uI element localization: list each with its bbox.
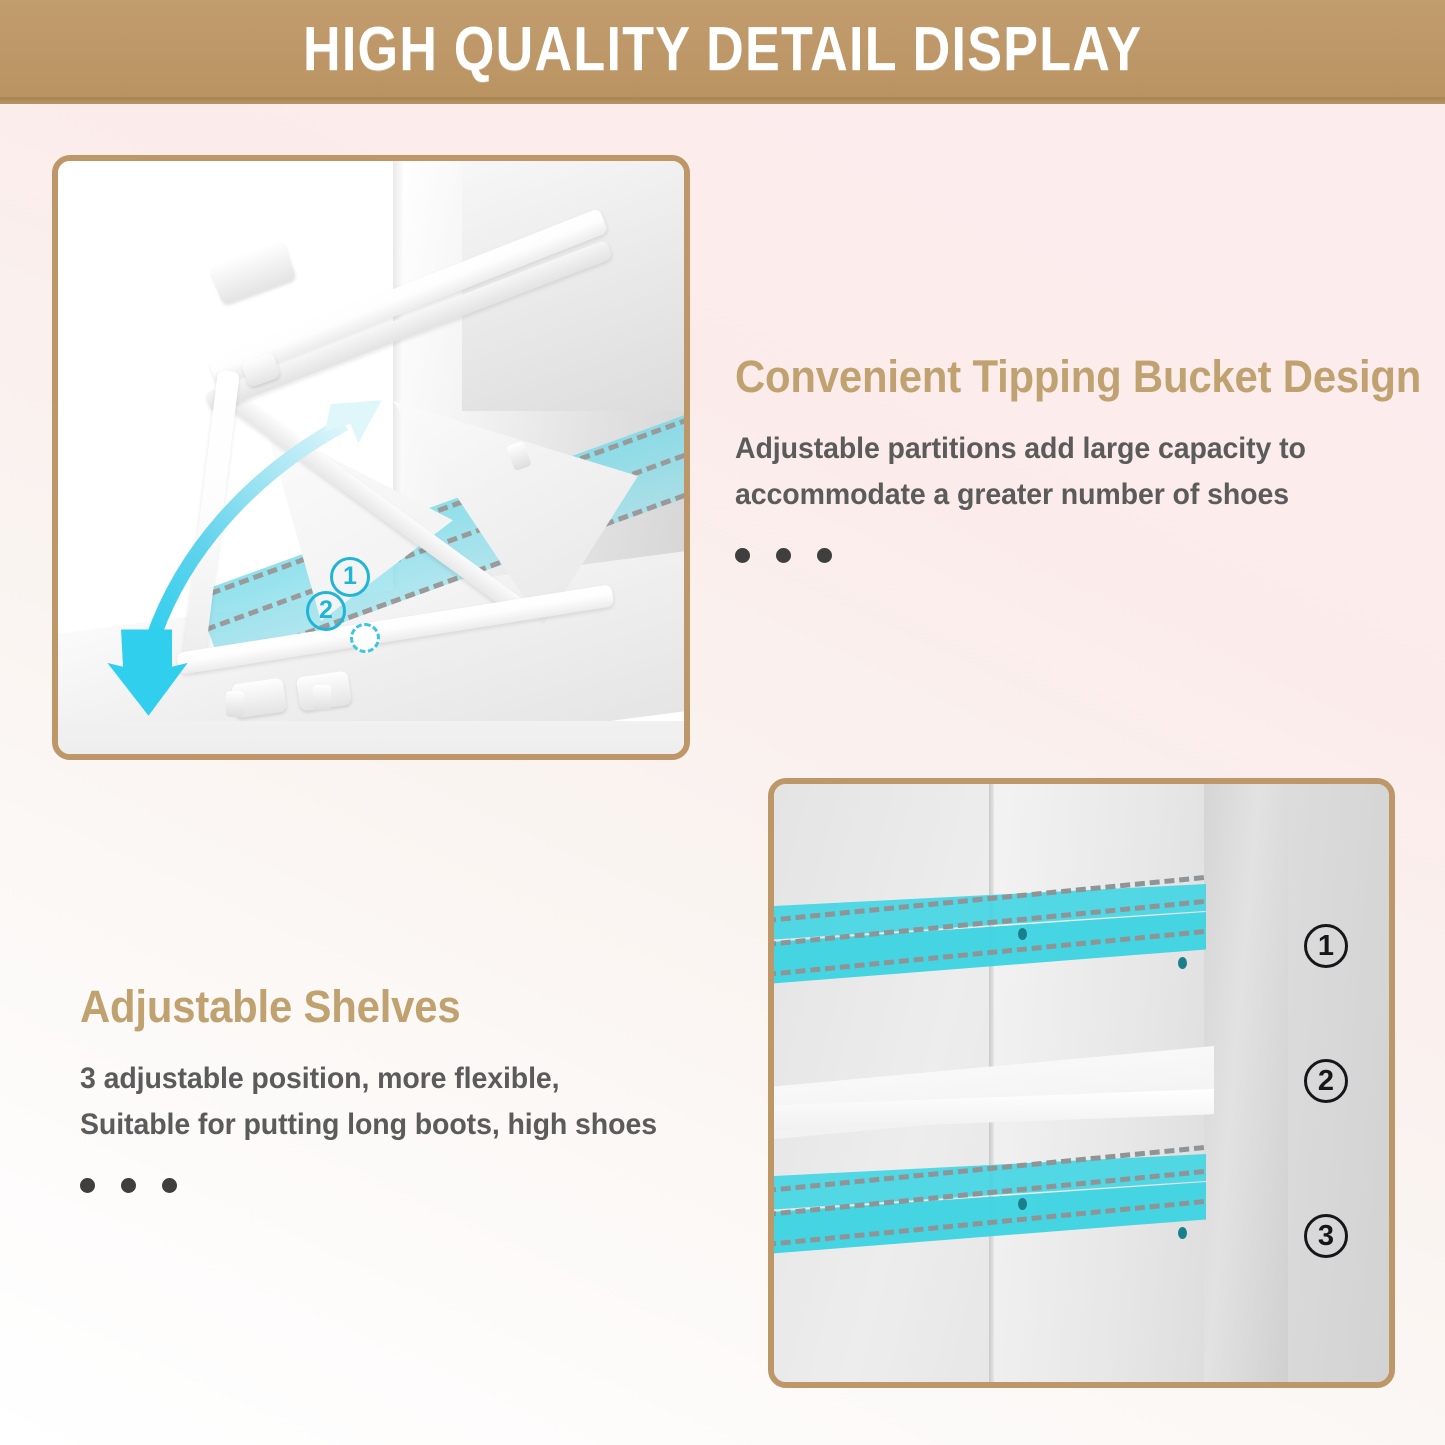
shelf-peg-hole — [1018, 928, 1027, 940]
ghost-shelf-position-3 — [774, 1154, 1206, 1262]
tipping-marker-2: 2 — [306, 591, 346, 631]
cabinet-front-post — [1204, 784, 1288, 1382]
tipping-bucket-photo-panel: 1 2 — [52, 155, 690, 760]
shelf-position-marker-1: 1 — [1304, 924, 1348, 968]
feature-body-line: accommodate a greater number of shoes — [735, 472, 1362, 518]
ghost-shelf-position-1 — [774, 884, 1206, 992]
dot — [121, 1178, 136, 1193]
dot — [776, 548, 791, 563]
feature-body-line: 3 adjustable position, more flexible, — [80, 1056, 707, 1102]
feature-tipping-bucket: Convenient Tipping Bucket Design Adjusta… — [735, 352, 1395, 563]
dot — [735, 548, 750, 563]
feature-dots-tipping-bucket — [735, 548, 1395, 563]
tipping-bucket-image: 1 2 — [58, 161, 684, 754]
shelf-position-marker-2: 2 — [1304, 1059, 1348, 1103]
feature-body-adjustable-shelves: 3 adjustable position, more flexible, Su… — [80, 1056, 707, 1147]
adjustable-shelves-image: 1 2 3 — [774, 784, 1389, 1382]
pivot-point-icon — [350, 623, 380, 653]
feature-adjustable-shelves: Adjustable Shelves 3 adjustable position… — [80, 982, 740, 1193]
feature-body-line: Adjustable partitions add large capacity… — [735, 426, 1362, 472]
feature-dots-adjustable-shelves — [80, 1178, 740, 1193]
page-title: HIGH QUALITY DETAIL DISPLAY — [303, 19, 1142, 85]
shelf-peg-hole — [1178, 957, 1187, 969]
feature-title-adjustable-shelves: Adjustable Shelves — [80, 982, 694, 1032]
detail-display-page: HIGH QUALITY DETAIL DISPLAY — [0, 0, 1445, 1445]
adjustable-shelves-photo-panel: 1 2 3 — [768, 778, 1395, 1388]
dot — [817, 548, 832, 563]
feature-body-tipping-bucket: Adjustable partitions add large capacity… — [735, 426, 1362, 517]
header-banner: HIGH QUALITY DETAIL DISPLAY — [0, 0, 1445, 104]
shelf-peg-hole — [1178, 1227, 1187, 1239]
shelf-peg-hole — [1018, 1198, 1027, 1210]
feature-title-tipping-bucket: Convenient Tipping Bucket Design — [735, 352, 1349, 402]
tipping-marker-1: 1 — [330, 557, 370, 597]
dot — [80, 1178, 95, 1193]
shelf-position-marker-3: 3 — [1304, 1214, 1348, 1258]
banner-shadow — [0, 97, 1445, 104]
feature-body-line: Suitable for putting long boots, high sh… — [80, 1102, 707, 1148]
tipping-motion-arrow-icon — [58, 161, 684, 754]
dot — [162, 1178, 177, 1193]
